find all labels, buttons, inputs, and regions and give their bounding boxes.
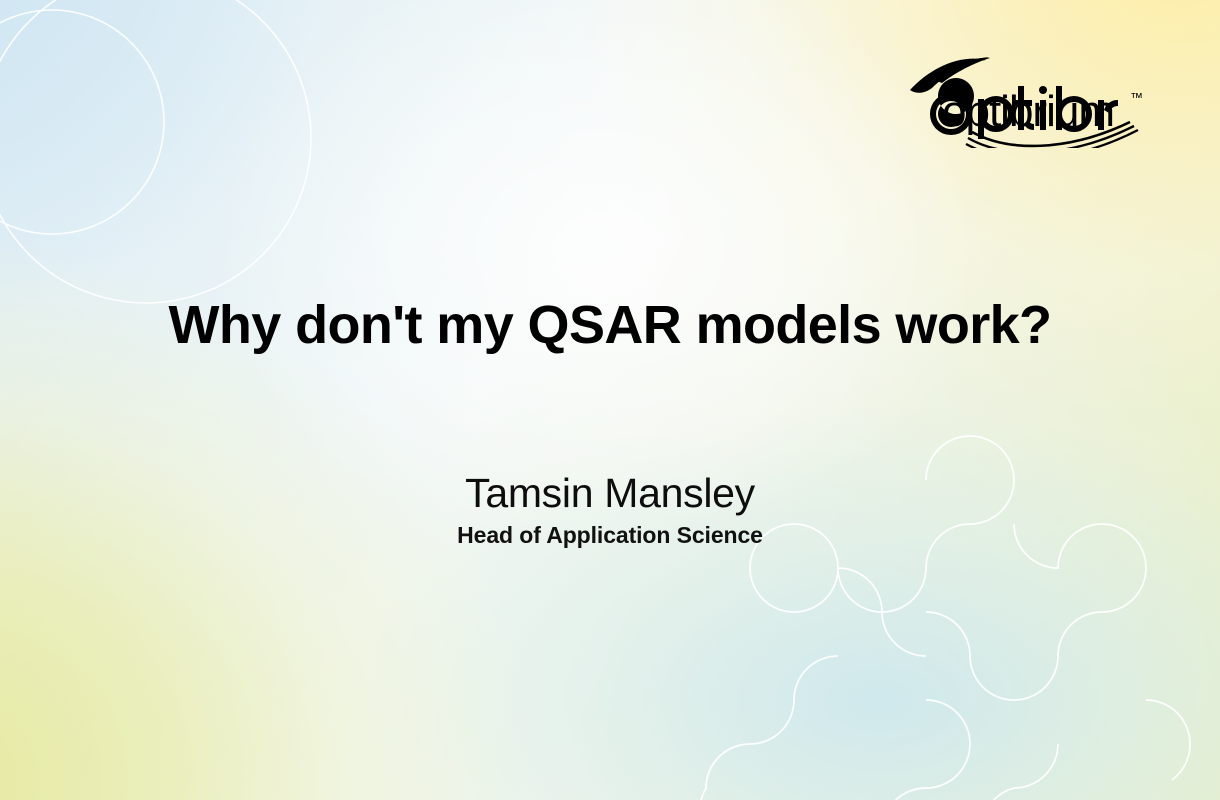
- presenter-role: Head of Application Science: [0, 522, 1220, 550]
- presenter-block: Tamsin Mansley Head of Application Scien…: [0, 470, 1220, 550]
- logo-wordmark-text: optibrium: [942, 87, 1114, 136]
- logo-trademark-symbol: ™: [1130, 90, 1143, 105]
- presenter-name: Tamsin Mansley: [0, 470, 1220, 517]
- optibrium-logo: optibrium ™: [908, 52, 1156, 148]
- page-title: Why don't my QSAR models work?: [0, 296, 1220, 355]
- title-slide: optibrium ™ Why don't my QSAR models wor…: [0, 0, 1220, 800]
